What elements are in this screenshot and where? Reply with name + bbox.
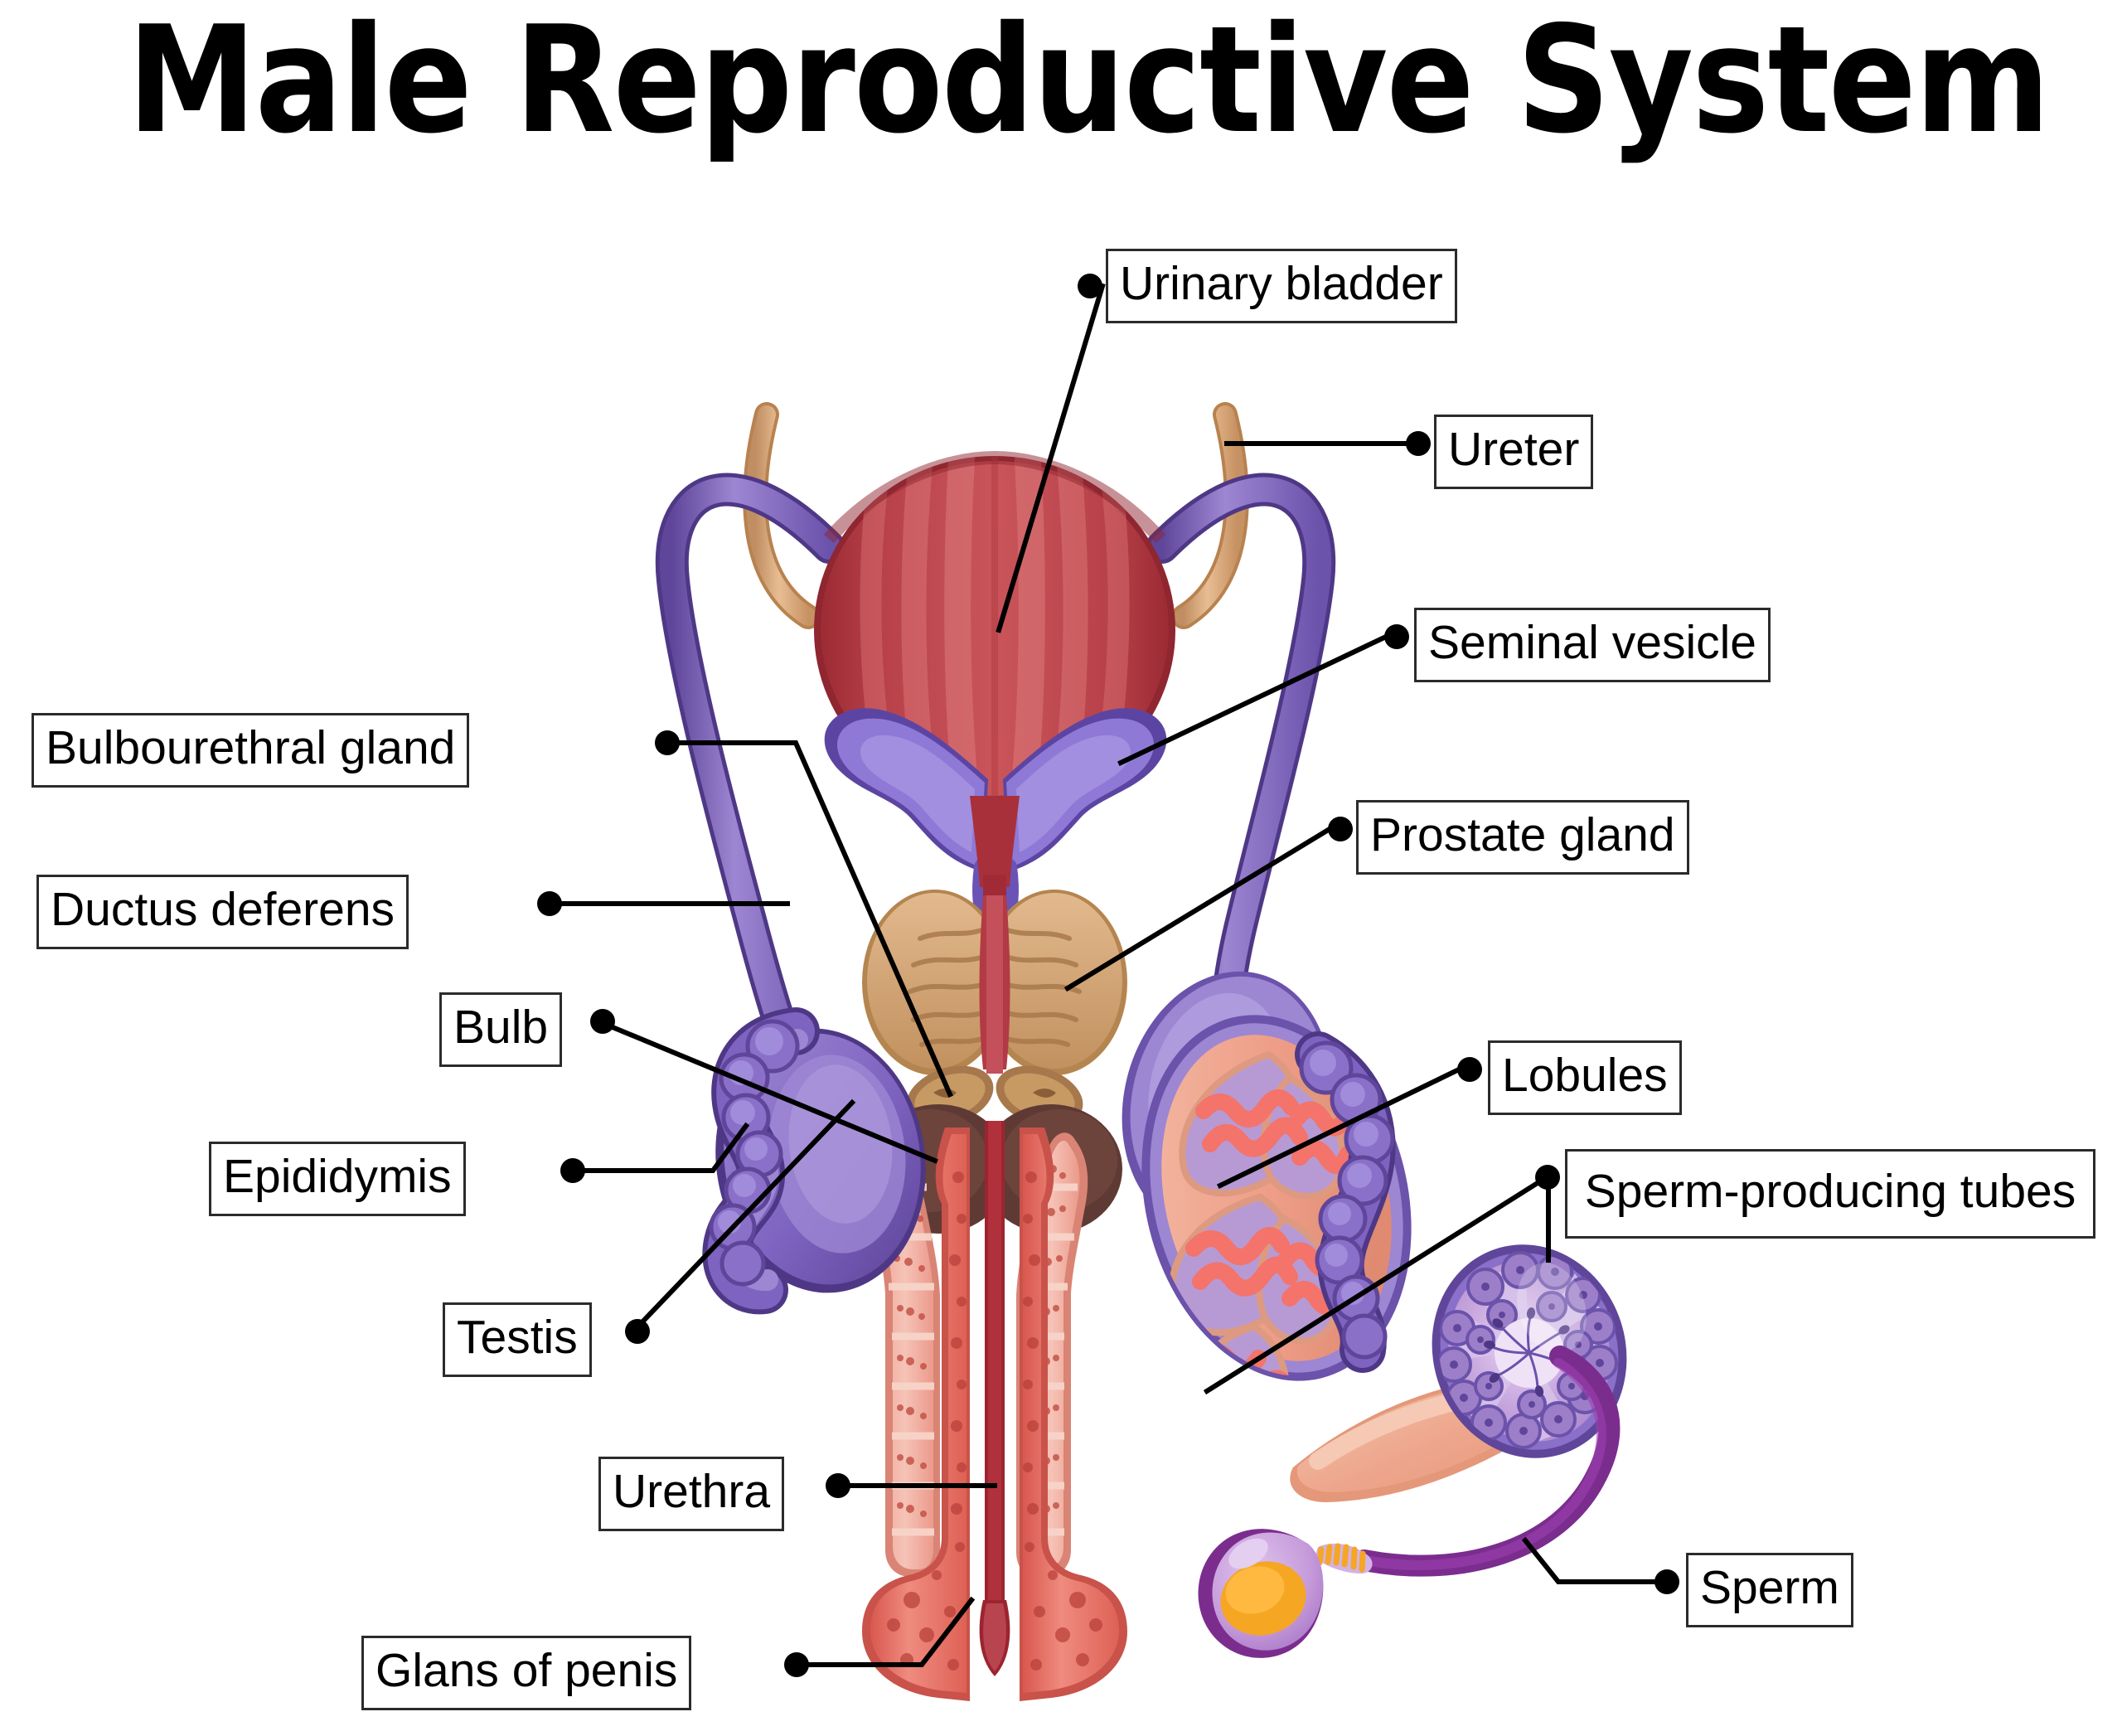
label-bulbourethral-gland[interactable]: Bulbourethral gland: [31, 713, 469, 788]
label-lobules[interactable]: Lobules: [1488, 1040, 1682, 1115]
diagram-canvas: Male Reproductive System: [0, 0, 2122, 1736]
label-glans-of-penis[interactable]: Glans of penis: [361, 1636, 691, 1710]
anatomy-illustration: [0, 0, 2122, 1736]
dot-seminal-vesicle: [1384, 624, 1409, 649]
dot-urethra: [826, 1473, 850, 1498]
dot-testis: [625, 1319, 650, 1344]
prostate-gland-art: [862, 890, 1127, 1075]
dot-ureter: [1406, 431, 1431, 456]
label-sperm[interactable]: Sperm: [1686, 1553, 1853, 1627]
dot-glans-of-penis: [784, 1652, 809, 1677]
label-ureter[interactable]: Ureter: [1434, 415, 1593, 489]
label-seminal-vesicle[interactable]: Seminal vesicle: [1414, 608, 1771, 682]
label-testis[interactable]: Testis: [443, 1302, 592, 1377]
label-urinary-bladder[interactable]: Urinary bladder: [1106, 249, 1457, 323]
dot-bulbourethral-gland: [655, 730, 680, 755]
dot-epididymis: [560, 1158, 585, 1183]
dot-prostate-gland: [1328, 817, 1353, 841]
label-ductus-deferens[interactable]: Ductus deferens: [36, 875, 409, 949]
dot-sperm: [1654, 1569, 1679, 1594]
dot-sperm-producing-tubes: [1535, 1165, 1560, 1190]
label-epididymis[interactable]: Epididymis: [209, 1142, 466, 1216]
dot-urinary-bladder: [1078, 274, 1102, 298]
testis-right-art: [1095, 949, 1449, 1443]
label-prostate-gland[interactable]: Prostate gland: [1356, 800, 1689, 875]
label-sperm-producing-tubes[interactable]: Sperm-producing tubes: [1565, 1149, 2095, 1239]
dot-bulb: [590, 1009, 615, 1034]
label-bulb[interactable]: Bulb: [439, 992, 562, 1067]
dot-ductus-deferens: [537, 891, 562, 916]
label-urethra[interactable]: Urethra: [598, 1457, 784, 1531]
dot-lobules: [1457, 1057, 1482, 1082]
